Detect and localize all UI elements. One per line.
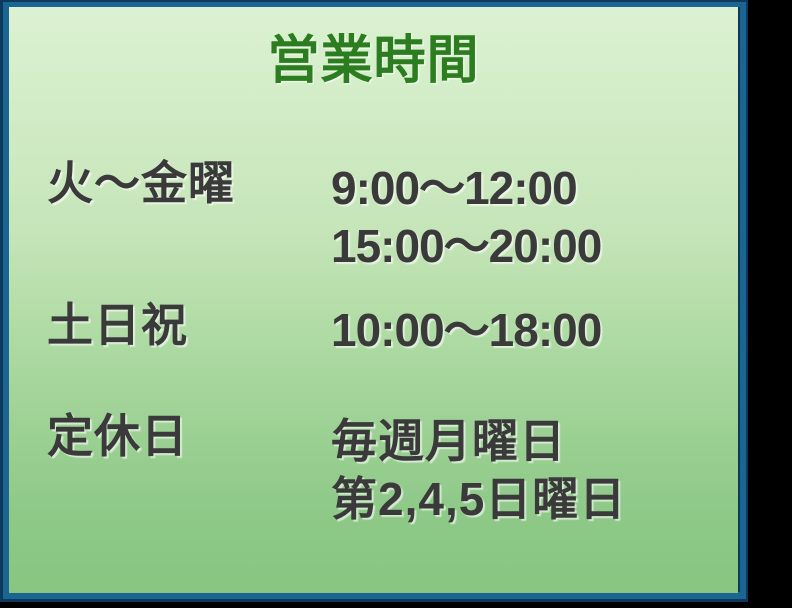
background-filler-right [748, 0, 792, 608]
hours-row-label: 土日祝 [47, 301, 188, 351]
hours-row-label: 定休日 [47, 412, 188, 462]
hours-value-line: 10:00〜18:00 [331, 301, 601, 361]
hours-value-line: 9:00〜12:00 [331, 159, 601, 219]
hours-list: 火〜金曜 9:00〜12:00 15:00〜20:00 土日祝 10:00〜18… [9, 7, 738, 593]
sign-border-outer: 営業時間 火〜金曜 9:00〜12:00 15:00〜20:00 土日祝 10:… [0, 0, 748, 602]
sign-panel: 営業時間 火〜金曜 9:00〜12:00 15:00〜20:00 土日祝 10:… [9, 7, 738, 593]
hours-row-values: 9:00〜12:00 15:00〜20:00 [331, 159, 601, 277]
sign-canvas: 営業時間 火〜金曜 9:00〜12:00 15:00〜20:00 土日祝 10:… [0, 0, 792, 608]
hours-value-line: 15:00〜20:00 [331, 217, 601, 277]
hours-row-values: 毎週月曜日 第2,4,5日曜日 [331, 412, 626, 530]
hours-value-line: 第2,4,5日曜日 [331, 470, 626, 530]
hours-row-values: 10:00〜18:00 [331, 301, 601, 361]
hours-value-line: 毎週月曜日 [331, 412, 626, 472]
background-filler-bottom [0, 602, 792, 608]
hours-row-label: 火〜金曜 [47, 159, 235, 209]
